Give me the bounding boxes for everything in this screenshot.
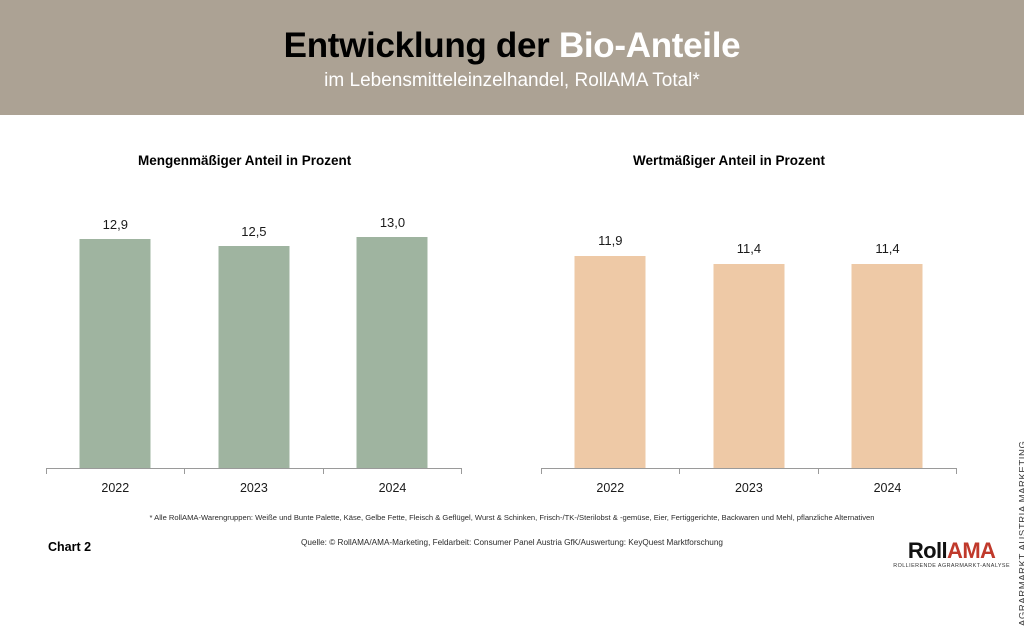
chart-panel-mengenmaessig: Mengenmäßiger Anteil in Prozent 12,9 202… (30, 115, 500, 505)
page-title-accent: Bio-Anteile (559, 26, 740, 65)
x-axis-label-2024: 2024 (874, 481, 902, 495)
axis-tick (46, 469, 47, 474)
logo-word-roll: Roll (908, 538, 947, 563)
bar-value-label: 11,4 (737, 241, 761, 256)
bar-value-label: 12,5 (241, 224, 266, 239)
x-axis-line (541, 468, 957, 469)
source-text: Quelle: © RollAMA/AMA-Marketing, Feldarb… (0, 538, 1024, 547)
logo-word-ama: AMA (947, 538, 995, 563)
axis-tick (461, 469, 462, 474)
bar-group-2023: 12,5 2023 (185, 210, 324, 469)
axis-tick (818, 469, 819, 474)
category-row: 2024 (323, 469, 462, 470)
plot-area-mengenmaessig: 12,9 2022 12,5 2023 13,0 2024 (46, 210, 462, 469)
chart-title-wertmaessig: Wertmäßiger Anteil in Prozent (633, 153, 825, 168)
bar-2024[interactable] (357, 237, 428, 469)
header-band: Entwicklung der Bio-Anteile im Lebensmit… (0, 0, 1024, 115)
category-row: 2023 (185, 469, 324, 470)
chart-number-label: Chart 2 (48, 540, 91, 554)
rollama-logo: RollAMA ROLLIERENDE AGRARMARKT-ANALYSE (893, 540, 1010, 569)
bar-group-2024: 11,4 2024 (818, 210, 957, 469)
chart-panel-wertmaessig: Wertmäßiger Anteil in Prozent 11,9 2022 … (525, 115, 995, 505)
x-axis-label-2024: 2024 (379, 481, 407, 495)
chart-title-mengenmaessig: Mengenmäßiger Anteil in Prozent (138, 153, 351, 168)
charts-container: Mengenmäßiger Anteil in Prozent 12,9 202… (0, 115, 1024, 505)
page-subtitle: im Lebensmitteleinzelhandel, RollAMA Tot… (324, 70, 700, 92)
bar-2022[interactable] (575, 256, 646, 469)
side-vertical-label: AGRARMARKT AUSTRIA MARKETING (1018, 441, 1024, 626)
bar-group-2022: 12,9 2022 (46, 210, 185, 469)
x-axis-label-2023: 2023 (240, 481, 268, 495)
category-row: 2023 (680, 469, 819, 470)
page-title-main: Entwicklung der (284, 26, 559, 65)
category-row: 2022 (541, 469, 680, 470)
bar-group-2024: 13,0 2024 (323, 210, 462, 469)
logo-tagline: ROLLIERENDE AGRARMARKT-ANALYSE (893, 564, 1010, 569)
bar-2023[interactable] (713, 264, 784, 469)
bar-value-label: 12,9 (103, 217, 128, 232)
bar-value-label: 11,9 (598, 233, 622, 248)
axis-tick (956, 469, 957, 474)
x-axis-label-2022: 2022 (596, 481, 624, 495)
x-axis-label-2023: 2023 (735, 481, 763, 495)
category-row: 2024 (818, 469, 957, 470)
axis-tick (184, 469, 185, 474)
axis-tick (541, 469, 542, 474)
bar-2023[interactable] (218, 246, 289, 469)
bar-group-2022: 11,9 2022 (541, 210, 680, 469)
footnote-text: * Alle RollAMA-Warengruppen: Weiße und B… (0, 513, 1024, 522)
page-title: Entwicklung der Bio-Anteile (284, 27, 741, 65)
axis-tick (323, 469, 324, 474)
logo-wordmark: RollAMA (893, 540, 1010, 562)
category-row: 2022 (46, 469, 185, 470)
axis-tick (679, 469, 680, 474)
plot-area-wertmaessig: 11,9 2022 11,4 2023 11,4 2024 (541, 210, 957, 469)
x-axis-line (46, 468, 462, 469)
bar-group-2023: 11,4 2023 (680, 210, 819, 469)
bar-2024[interactable] (852, 264, 923, 469)
bar-2022[interactable] (80, 239, 151, 469)
bar-value-label: 11,4 (875, 241, 899, 256)
x-axis-label-2022: 2022 (101, 481, 129, 495)
bar-value-label: 13,0 (380, 215, 405, 230)
